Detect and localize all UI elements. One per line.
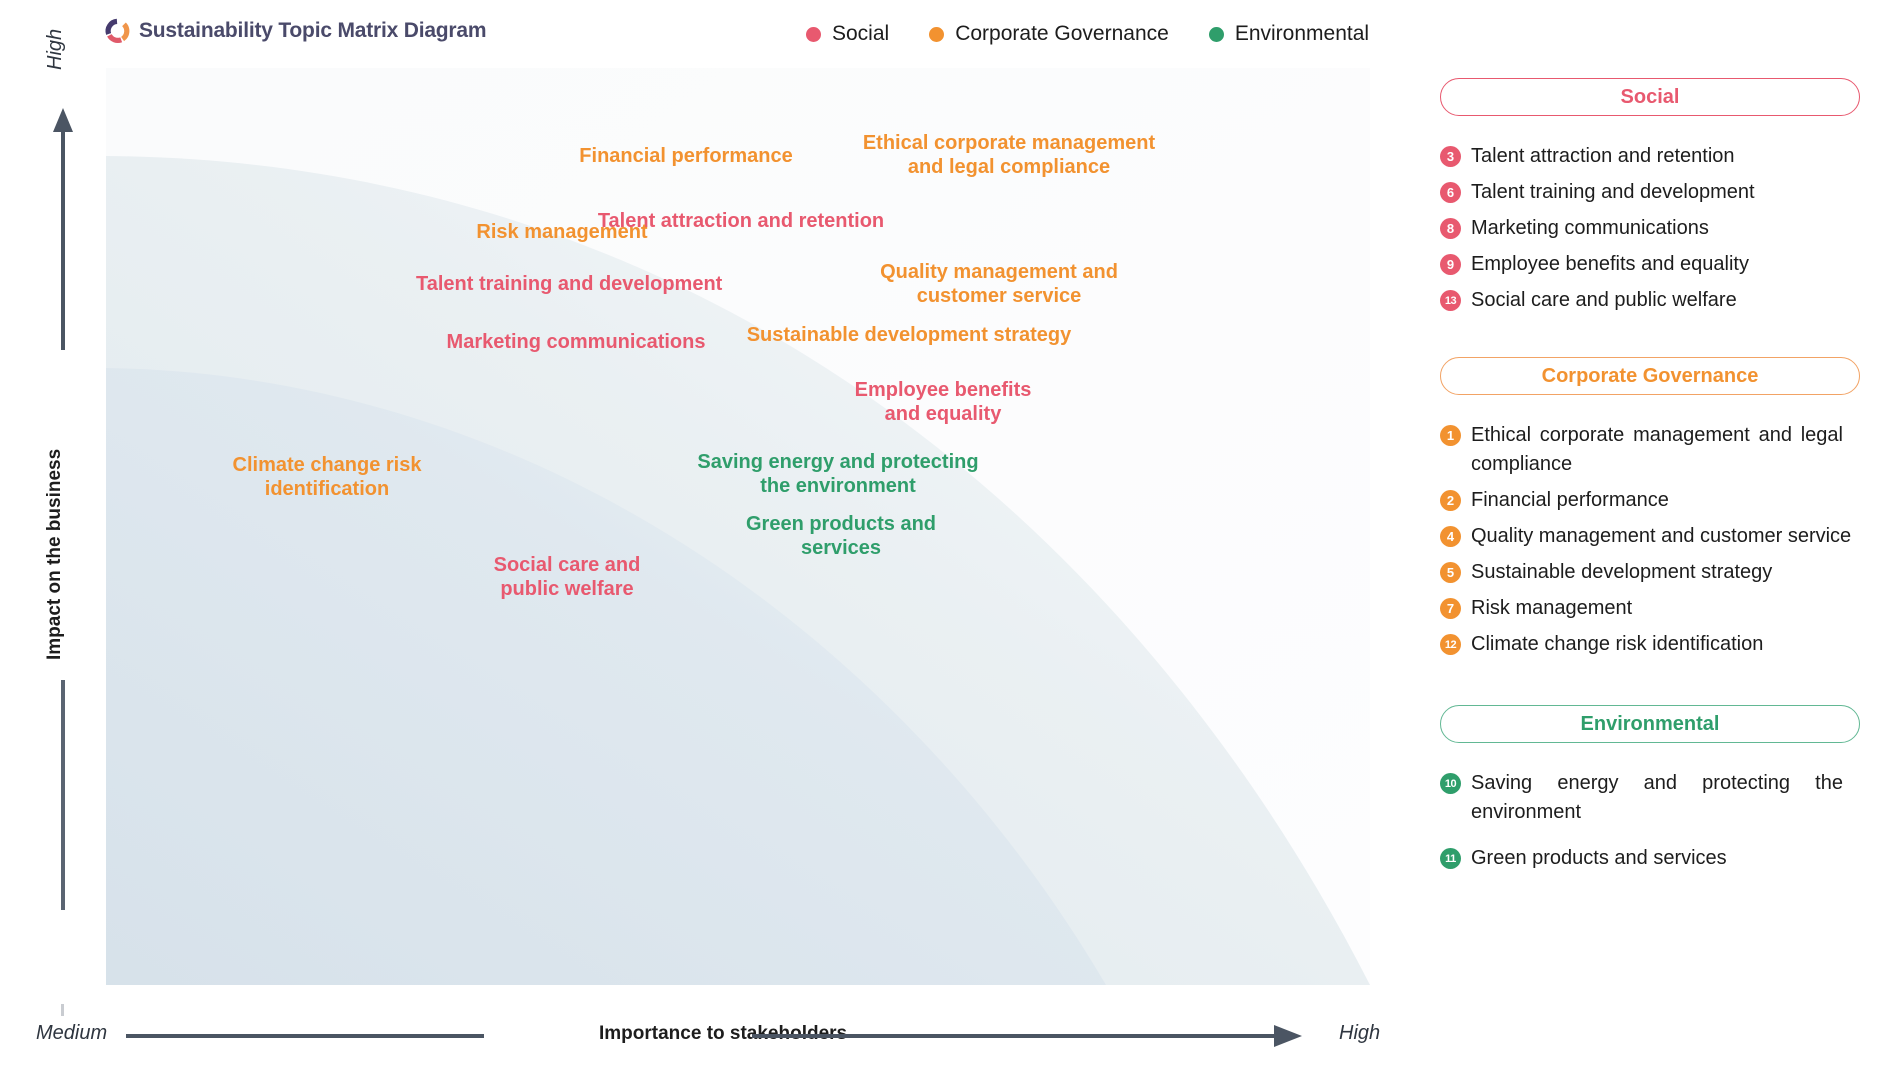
item-label: Green products and services <box>1471 844 1727 873</box>
matrix-plot-area: Ethical corporate management and legal c… <box>106 68 1370 985</box>
topic-label-ethical-corporate-management[interactable]: Ethical corporate management and legal c… <box>859 131 1159 180</box>
item-number-badge: 3 <box>1440 146 1461 167</box>
list-item[interactable]: 11 Green products and services <box>1440 844 1860 873</box>
legend-dot-social-icon <box>806 27 821 42</box>
topic-label-risk-management[interactable]: Risk management <box>452 220 672 244</box>
panel-list-corporate-governance: 1 Ethical corporate management and legal… <box>1440 421 1860 659</box>
x-axis-tick-mark <box>61 1004 64 1016</box>
item-number-badge: 7 <box>1440 598 1461 619</box>
item-label: Social care and public welfare <box>1471 286 1737 315</box>
legend-label-environmental: Environmental <box>1235 22 1369 46</box>
legend: Social Corporate Governance Environmenta… <box>806 22 1409 46</box>
topic-label-social-care-and-public-welfare[interactable]: Social care and public welfare <box>452 553 682 602</box>
topic-label-sustainable-development-strategy[interactable]: Sustainable development strategy <box>739 323 1079 347</box>
item-number-badge: 5 <box>1440 562 1461 583</box>
legend-dot-environmental-icon <box>1209 27 1224 42</box>
legend-label-social: Social <box>832 22 889 46</box>
topic-label-talent-training-and-development[interactable]: Talent training and development <box>416 272 716 296</box>
item-number-badge: 8 <box>1440 218 1461 239</box>
item-number-badge: 9 <box>1440 254 1461 275</box>
legend-item-social[interactable]: Social <box>806 22 889 46</box>
header-bar: Sustainability Topic Matrix Diagram Soci… <box>0 0 1882 68</box>
item-number-badge: 6 <box>1440 182 1461 203</box>
panel-corporate-governance: Corporate Governance 1 Ethical corporate… <box>1440 357 1860 659</box>
list-item[interactable]: 4 Quality management and customer servic… <box>1440 522 1860 551</box>
item-number-badge: 12 <box>1440 634 1461 655</box>
item-label: Sustainable development strategy <box>1471 558 1772 587</box>
legend-item-corporate-governance[interactable]: Corporate Governance <box>929 22 1169 46</box>
item-label: Risk management <box>1471 594 1632 623</box>
panel-social: Social 3 Talent attraction and retention… <box>1440 78 1860 315</box>
item-label: Saving energy and protecting the environ… <box>1471 769 1843 827</box>
topic-label-climate-change-risk-identification[interactable]: Climate change risk identification <box>212 453 442 502</box>
x-axis-arrow-icon <box>750 1022 1310 1054</box>
panel-environmental: Environmental 10 Saving energy and prote… <box>1440 705 1860 873</box>
list-item[interactable]: 8 Marketing communications <box>1440 214 1860 243</box>
panel-list-social: 3 Talent attraction and retention 6 Tale… <box>1440 142 1860 315</box>
item-label: Talent training and development <box>1471 178 1755 207</box>
item-label: Climate change risk identification <box>1471 630 1763 659</box>
list-item[interactable]: 2 Financial performance <box>1440 486 1860 515</box>
list-item[interactable]: 6 Talent training and development <box>1440 178 1860 207</box>
topic-label-saving-energy-and-protecting-the-environment[interactable]: Saving energy and protecting the environ… <box>683 450 993 499</box>
page-title: Sustainability Topic Matrix Diagram <box>139 19 486 43</box>
item-number-badge: 1 <box>1440 425 1461 446</box>
item-label: Ethical corporate management and legal c… <box>1471 421 1843 479</box>
y-axis-arrow-icon <box>52 102 82 352</box>
logo-title-group: Sustainability Topic Matrix Diagram <box>104 18 486 44</box>
topic-label-employee-benefits-and-equality[interactable]: Employee benefits and equality <box>828 378 1058 427</box>
item-number-badge: 13 <box>1440 290 1461 311</box>
item-number-badge: 11 <box>1440 848 1461 869</box>
list-item[interactable]: 5 Sustainable development strategy <box>1440 558 1860 587</box>
topic-label-quality-management-and-customer-service[interactable]: Quality management and customer service <box>858 260 1140 309</box>
legend-item-environmental[interactable]: Environmental <box>1209 22 1369 46</box>
topic-label-marketing-communications[interactable]: Marketing communications <box>436 330 716 354</box>
panel-title-social: Social <box>1621 86 1680 109</box>
legend-label-corporate-governance: Corporate Governance <box>955 22 1169 46</box>
list-item[interactable]: 3 Talent attraction and retention <box>1440 142 1860 171</box>
x-axis-high-label: High <box>1339 1022 1380 1045</box>
panel-title-corporate-governance: Corporate Governance <box>1542 365 1759 388</box>
panel-header-environmental[interactable]: Environmental <box>1440 705 1860 743</box>
item-label: Quality management and customer service <box>1471 522 1860 551</box>
legend-dot-corporate-governance-icon <box>929 27 944 42</box>
item-label: Financial performance <box>1471 486 1669 515</box>
list-item[interactable]: 10 Saving energy and protecting the envi… <box>1440 769 1860 827</box>
y-axis: High Impact on the business <box>30 60 100 860</box>
list-item[interactable]: 7 Risk management <box>1440 594 1860 623</box>
list-item[interactable]: 1 Ethical corporate management and legal… <box>1440 421 1860 479</box>
list-item[interactable]: 12 Climate change risk identification <box>1440 630 1860 659</box>
category-sidebar: Social 3 Talent attraction and retention… <box>1440 78 1860 880</box>
topic-label-green-products-and-services[interactable]: Green products and services <box>726 512 956 561</box>
item-label: Talent attraction and retention <box>1471 142 1735 171</box>
list-item[interactable]: 13 Social care and public welfare <box>1440 286 1860 315</box>
y-axis-lower-line <box>61 680 65 910</box>
topic-label-financial-performance[interactable]: Financial performance <box>576 144 796 168</box>
panel-header-social[interactable]: Social <box>1440 78 1860 116</box>
list-item[interactable]: 9 Employee benefits and equality <box>1440 250 1860 279</box>
item-label: Employee benefits and equality <box>1471 250 1749 279</box>
y-axis-high-label: High <box>44 29 67 70</box>
panel-title-environmental: Environmental <box>1581 713 1720 736</box>
panel-header-corporate-governance[interactable]: Corporate Governance <box>1440 357 1860 395</box>
x-axis: Medium Importance to stakeholders High <box>0 1012 1430 1062</box>
panel-list-environmental: 10 Saving energy and protecting the envi… <box>1440 769 1860 873</box>
item-number-badge: 4 <box>1440 526 1461 547</box>
y-axis-title: Impact on the business <box>44 449 66 660</box>
x-axis-low-label: Medium <box>36 1022 107 1045</box>
item-label: Marketing communications <box>1471 214 1709 243</box>
item-number-badge: 10 <box>1440 773 1461 794</box>
item-number-badge: 2 <box>1440 490 1461 511</box>
x-axis-line-left <box>126 1034 484 1038</box>
segmented-ring-logo-icon <box>104 18 130 44</box>
